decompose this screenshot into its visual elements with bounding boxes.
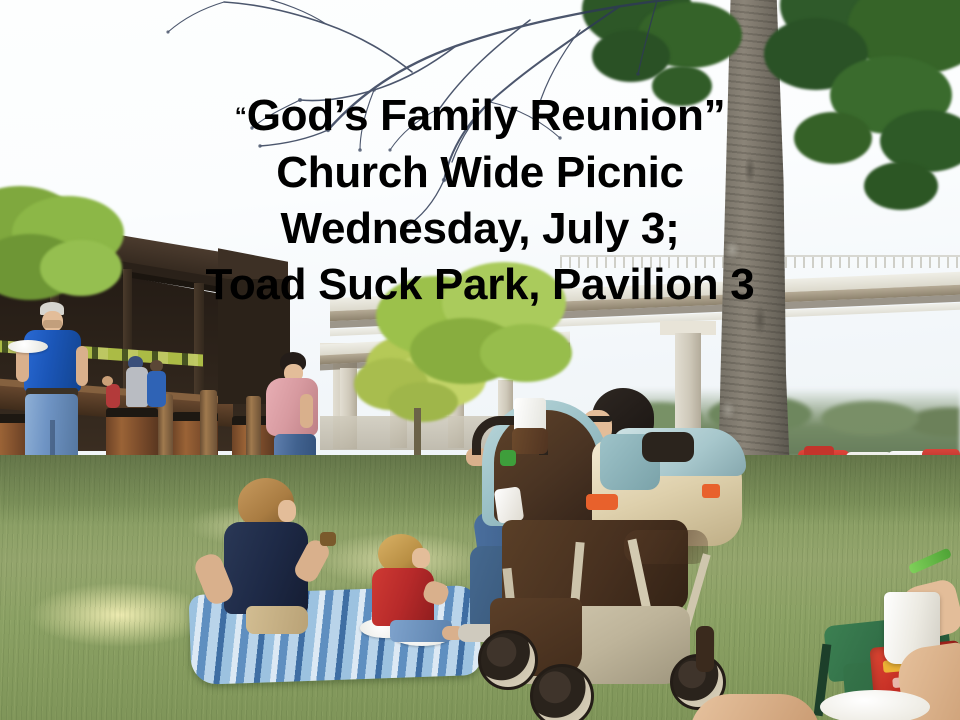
title-line-1: “God’s Family Reunion”: [0, 88, 960, 145]
counter-people: [118, 348, 208, 418]
stroller-wheel: [478, 630, 538, 690]
foreground-plate: [820, 690, 930, 720]
page-title: “God’s Family Reunion” Church Wide Picni…: [0, 88, 960, 313]
open-quote: “: [235, 103, 247, 130]
title-line-4: Toad Suck Park, Pavilion 3: [0, 257, 960, 313]
stroller-wheel: [530, 664, 594, 720]
stroller: [474, 392, 764, 712]
event-name: God’s Family Reunion: [247, 91, 704, 140]
title-line-3: Wednesday, July 3;: [0, 201, 960, 257]
close-quote: ”: [704, 91, 726, 140]
toddler-red-shirt: [368, 534, 468, 644]
title-line-2: Church Wide Picnic: [0, 145, 960, 201]
slide-image: “God’s Family Reunion” Church Wide Picni…: [0, 0, 960, 720]
boy-navy-shirt: [212, 478, 332, 638]
